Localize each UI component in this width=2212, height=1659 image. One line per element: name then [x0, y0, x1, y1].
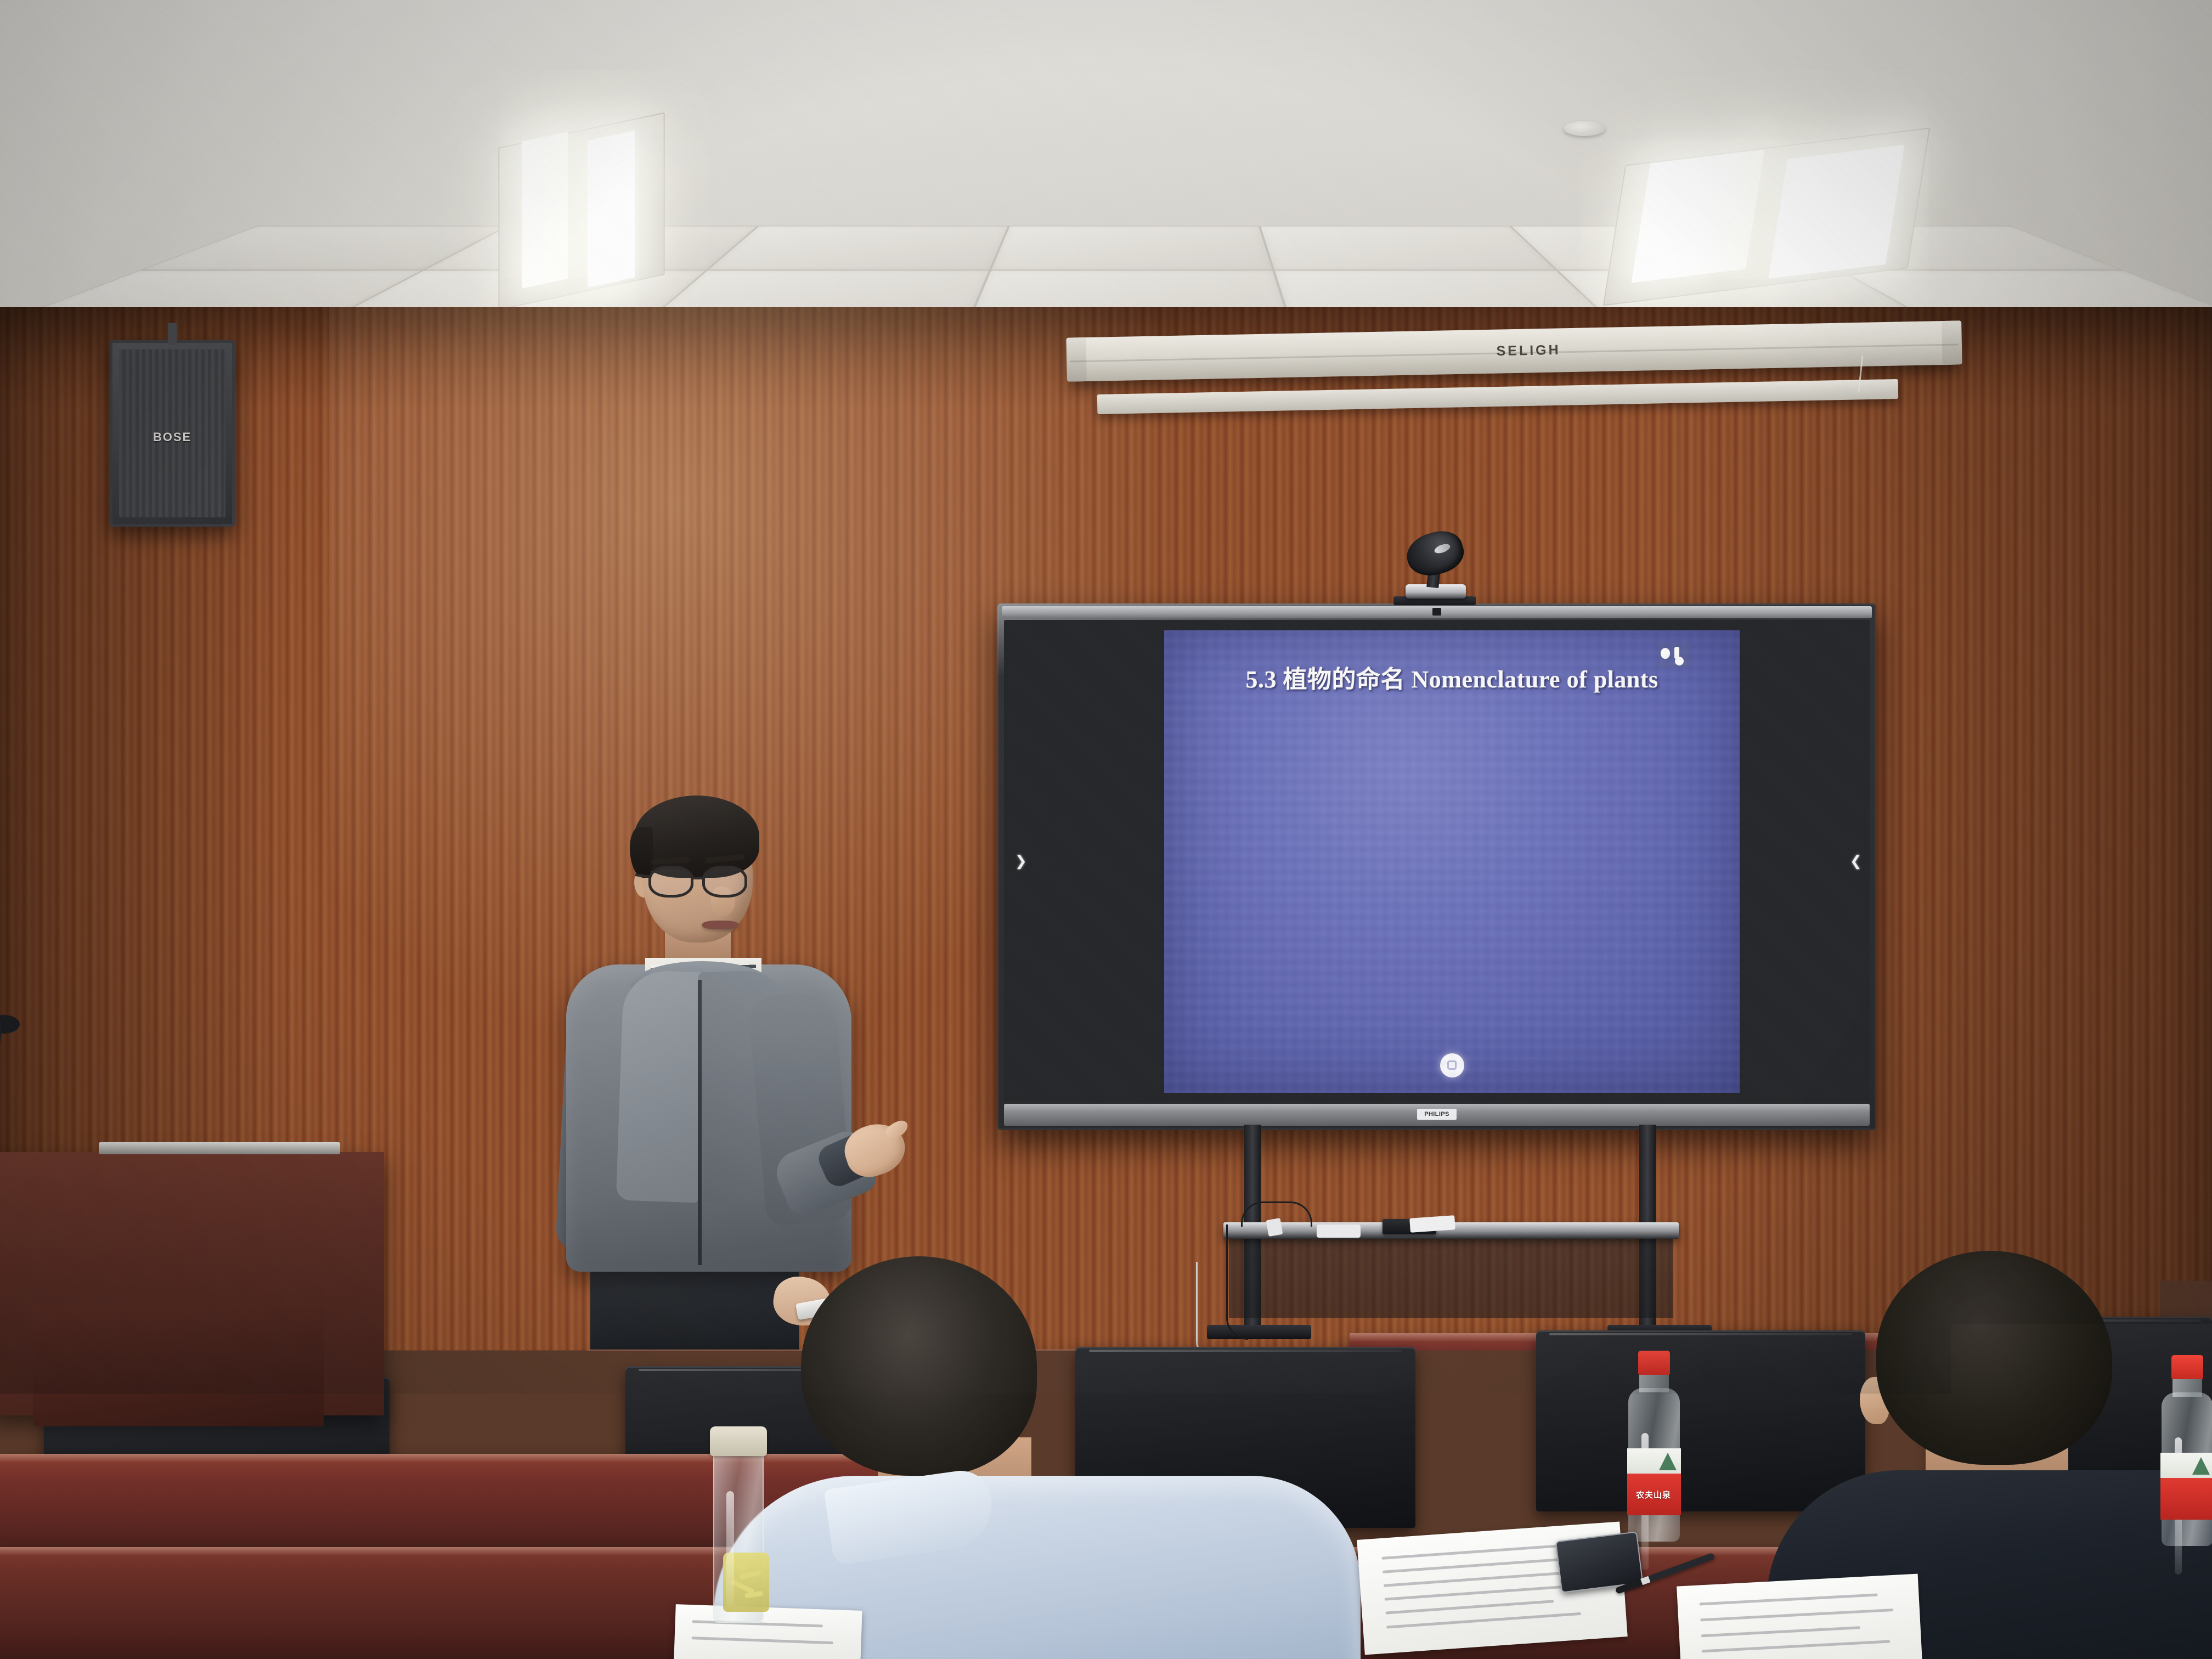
- glass-tea-tumbler[interactable]: [707, 1426, 770, 1635]
- tumbler-lid[interactable]: [710, 1426, 767, 1456]
- wall-speaker: BOSE: [110, 340, 235, 527]
- slide-title: 5.3 植物的命名 Nomenclature of plants: [1164, 659, 1740, 695]
- conference-camera: [1393, 524, 1476, 605]
- conference-room-photo: BOSE SELIGH ❯ ❮ 5.3 植物的命名 Nomenclature o…: [0, 0, 2212, 1659]
- slideshow-home-button[interactable]: [1440, 1053, 1464, 1077]
- fire-sprinkler-left: [296, 165, 315, 190]
- recessed-led-panel-left-a: [522, 132, 568, 289]
- projection-screen-brand-label: SELIGH: [1496, 342, 1561, 359]
- chevron-left-icon[interactable]: ❮: [1850, 854, 1859, 868]
- smartphone-2[interactable]: [658, 1630, 753, 1659]
- smoke-detector: [1564, 121, 1605, 136]
- display-ir-sensor: [1432, 608, 1441, 616]
- recessed-led-panel-right-b: [1769, 145, 1905, 279]
- lectern-top-edge: [99, 1142, 340, 1154]
- audience-right-hair: [1876, 1251, 2112, 1465]
- ceiling: [0, 0, 2212, 329]
- bottle-cap[interactable]: [2171, 1355, 2203, 1379]
- slide-cursor-artifact: [1657, 642, 1691, 668]
- display-bottom-bezel: PHILIPS: [1004, 1104, 1870, 1126]
- lectern-base: [33, 1306, 324, 1426]
- water-bottle-right[interactable]: [2156, 1355, 2212, 1553]
- audience-front-hair: [801, 1256, 1037, 1476]
- water-bottle-center[interactable]: 农夫山泉: [1623, 1351, 1684, 1548]
- interactive-flat-panel-display[interactable]: ❯ ❮ 5.3 植物的命名 Nomenclature of plants PHI…: [997, 603, 1876, 1130]
- coaster[interactable]: [598, 1569, 664, 1600]
- bottle-label-text: 农夫山泉: [1623, 1489, 1684, 1500]
- bottle-cap[interactable]: [1638, 1351, 1670, 1375]
- power-adapter: [1266, 1218, 1283, 1237]
- display-brand-logo: PHILIPS: [1417, 1109, 1457, 1120]
- audience-member-front: [713, 1256, 1361, 1659]
- display-screen-area[interactable]: ❯ ❮ 5.3 植物的命名 Nomenclature of plants: [1004, 620, 1870, 1102]
- presentation-slide[interactable]: 5.3 植物的命名 Nomenclature of plants: [1164, 630, 1740, 1093]
- eyeglasses: [645, 866, 758, 900]
- recessed-led-panel-right-a: [1632, 149, 1765, 283]
- speaker-logo: BOSE: [153, 430, 191, 444]
- jacket-zipper: [698, 980, 702, 1265]
- cable-bundle: [1317, 1224, 1361, 1238]
- home-square-icon: [1447, 1060, 1457, 1070]
- camera-lens-housing: [1402, 526, 1469, 582]
- fire-sprinkler-center: [1487, 203, 1505, 228]
- chevron-right-icon[interactable]: ❯: [1015, 854, 1024, 868]
- printed-handout-2[interactable]: [1677, 1574, 1922, 1659]
- chair-4[interactable]: [1536, 1330, 1865, 1511]
- recessed-led-panel-left-b: [588, 131, 635, 287]
